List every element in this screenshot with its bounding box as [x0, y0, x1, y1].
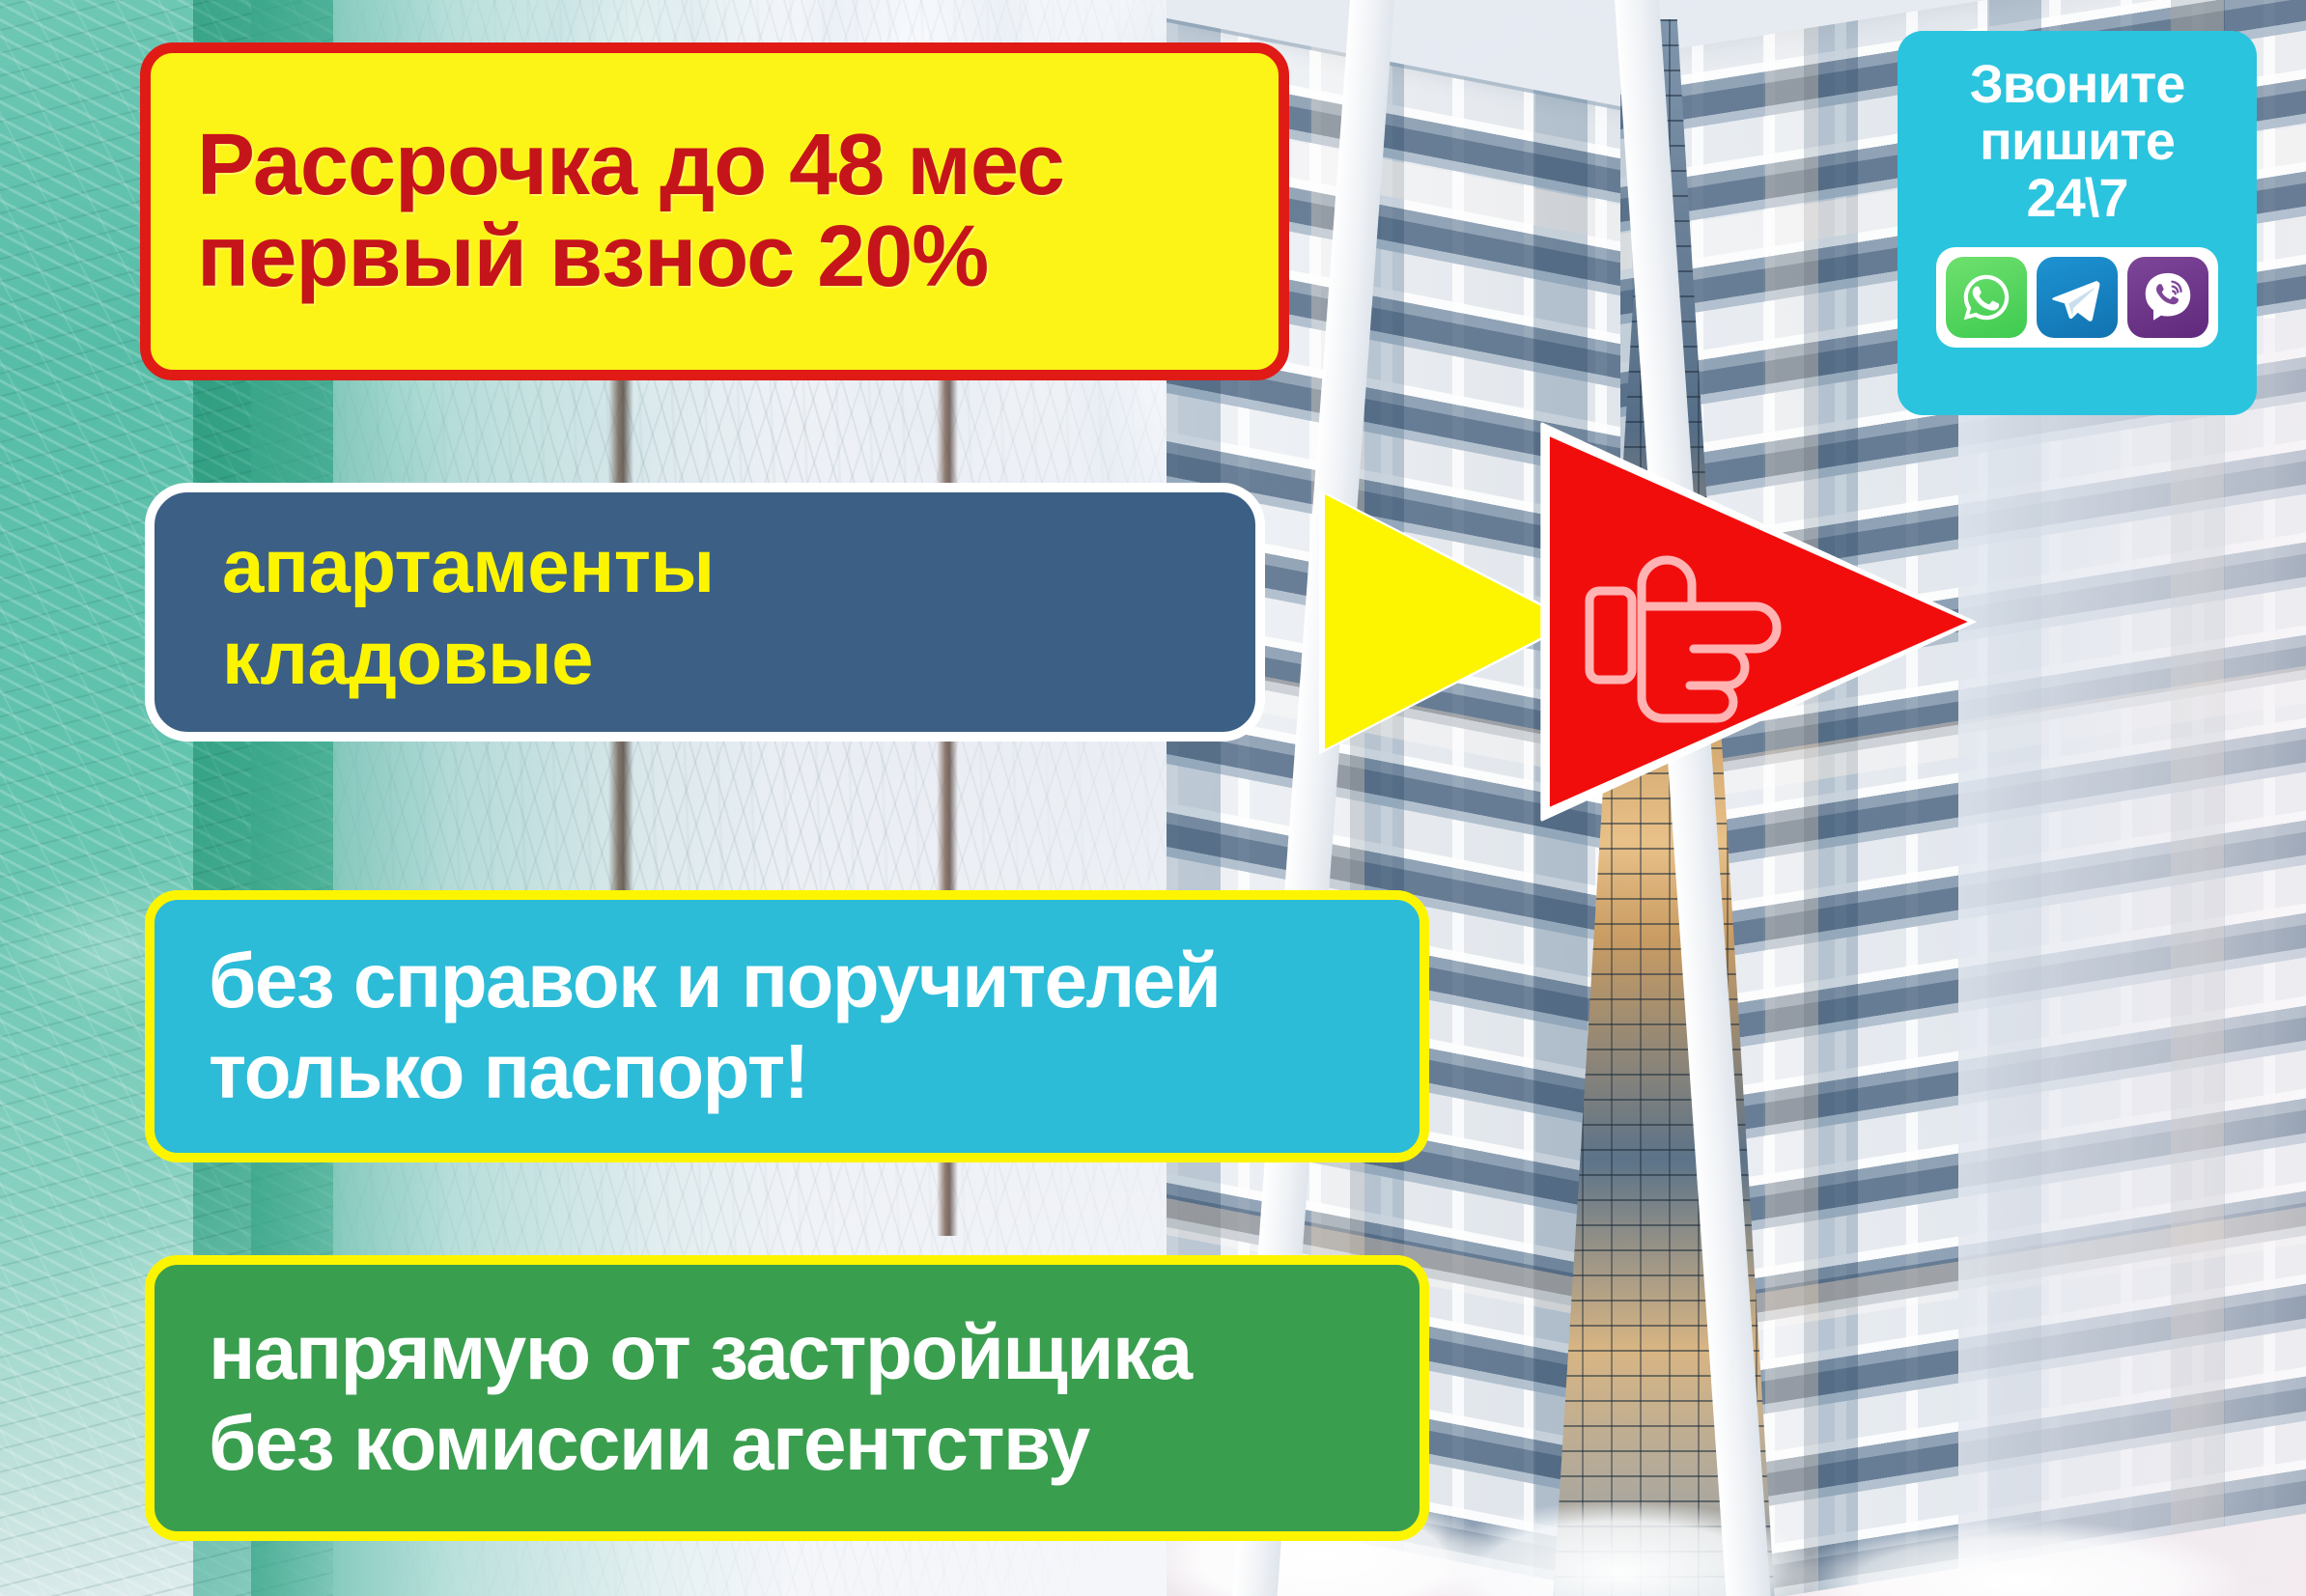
poster-canvas: Рассрочка до 48 мес первый взнос 20% апа…: [0, 0, 2306, 1596]
telegram-icon[interactable]: [2037, 257, 2118, 338]
offer-banner: Рассрочка до 48 мес первый взнос 20%: [140, 42, 1289, 380]
whatsapp-icon[interactable]: [1946, 257, 2027, 338]
documents-banner-text: без справок и поручителей только паспорт…: [155, 936, 1220, 1118]
contact-badge[interactable]: Звоните пишите 24\7: [1898, 31, 2257, 415]
pointing-hand-icon: [1584, 521, 1815, 724]
developer-banner-text: напрямую от застройщика без комиссии аге…: [155, 1307, 1192, 1490]
contact-badge-text: Звоните пишите 24\7: [1970, 56, 2185, 226]
developer-banner: напрямую от застройщика без комиссии аге…: [145, 1255, 1429, 1541]
product-banner: апартаменты кладовые: [145, 483, 1265, 742]
product-banner-text: апартаменты кладовые: [155, 520, 715, 704]
far-building-block: [1958, 319, 2306, 1596]
viber-icon[interactable]: [2127, 257, 2208, 338]
messenger-icon-row: [1936, 247, 2218, 348]
documents-banner: без справок и поручителей только паспорт…: [145, 890, 1429, 1162]
offer-banner-text: Рассрочка до 48 мес первый взнос 20%: [151, 120, 1064, 304]
